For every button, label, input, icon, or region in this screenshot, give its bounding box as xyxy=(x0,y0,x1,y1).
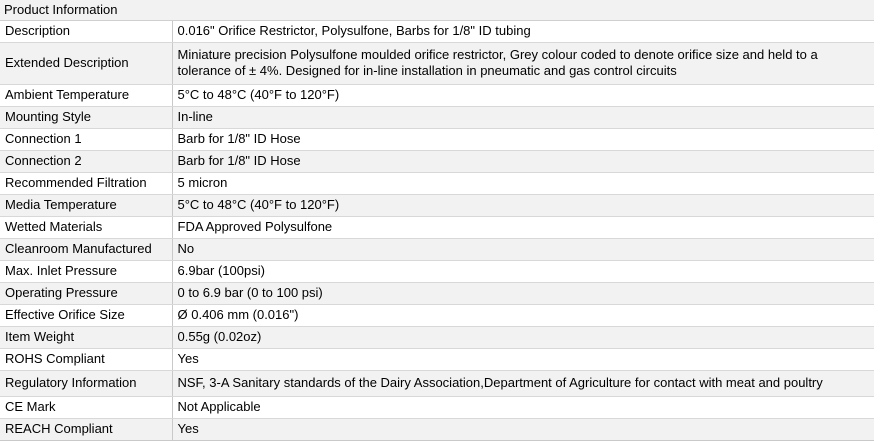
table-row: Regulatory InformationNSF, 3-A Sanitary … xyxy=(0,371,874,397)
row-value: 0.016" Orifice Restrictor, Polysulfone, … xyxy=(172,21,874,43)
row-value: FDA Approved Polysulfone xyxy=(172,217,874,239)
row-label: Operating Pressure xyxy=(0,283,172,305)
row-label: Connection 2 xyxy=(0,151,172,173)
row-label: Max. Inlet Pressure xyxy=(0,261,172,283)
table-row: Ambient Temperature5°C to 48°C (40°F to … xyxy=(0,85,874,107)
row-label: Description xyxy=(0,21,172,43)
row-value: NSF, 3-A Sanitary standards of the Dairy… xyxy=(172,371,874,397)
row-value: Ø 0.406 mm (0.016") xyxy=(172,305,874,327)
table-row: Extended DescriptionMiniature precision … xyxy=(0,43,874,85)
table-body: Product Information Description0.016" Or… xyxy=(0,0,874,441)
row-label: ROHS Compliant xyxy=(0,349,172,371)
row-value: No xyxy=(172,239,874,261)
table-row: REACH CompliantYes xyxy=(0,419,874,441)
table-row: Media Temperature5°C to 48°C (40°F to 12… xyxy=(0,195,874,217)
table-header-row: Product Information xyxy=(0,0,874,21)
table-row: Connection 2Barb for 1/8" ID Hose xyxy=(0,151,874,173)
row-value: 5°C to 48°C (40°F to 120°F) xyxy=(172,195,874,217)
row-label: REACH Compliant xyxy=(0,419,172,441)
table-row: Connection 1Barb for 1/8" ID Hose xyxy=(0,129,874,151)
table-row: Operating Pressure0 to 6.9 bar (0 to 100… xyxy=(0,283,874,305)
row-label: Connection 1 xyxy=(0,129,172,151)
table-row: Max. Inlet Pressure6.9bar (100psi) xyxy=(0,261,874,283)
row-label: Extended Description xyxy=(0,43,172,85)
row-label: Cleanroom Manufactured xyxy=(0,239,172,261)
table-row: Recommended Filtration5 micron xyxy=(0,173,874,195)
row-label: Media Temperature xyxy=(0,195,172,217)
table-title: Product Information xyxy=(0,0,874,21)
table-row: Description0.016" Orifice Restrictor, Po… xyxy=(0,21,874,43)
row-label: Item Weight xyxy=(0,327,172,349)
row-value: 5 micron xyxy=(172,173,874,195)
row-value: Miniature precision Polysulfone moulded … xyxy=(172,43,874,85)
table-row: Cleanroom ManufacturedNo xyxy=(0,239,874,261)
row-label: Effective Orifice Size xyxy=(0,305,172,327)
product-information-table: Product Information Description0.016" Or… xyxy=(0,0,874,441)
row-value: Yes xyxy=(172,349,874,371)
row-label: Regulatory Information xyxy=(0,371,172,397)
table-row: Effective Orifice SizeØ 0.406 mm (0.016"… xyxy=(0,305,874,327)
row-value: 0 to 6.9 bar (0 to 100 psi) xyxy=(172,283,874,305)
table-row: Wetted MaterialsFDA Approved Polysulfone xyxy=(0,217,874,239)
table-row: ROHS CompliantYes xyxy=(0,349,874,371)
row-value: 5°C to 48°C (40°F to 120°F) xyxy=(172,85,874,107)
row-label: Wetted Materials xyxy=(0,217,172,239)
row-label: Ambient Temperature xyxy=(0,85,172,107)
row-value: 6.9bar (100psi) xyxy=(172,261,874,283)
row-value: Yes xyxy=(172,419,874,441)
row-value: In-line xyxy=(172,107,874,129)
table-row: Item Weight0.55g (0.02oz) xyxy=(0,327,874,349)
row-label: Mounting Style xyxy=(0,107,172,129)
row-value: Barb for 1/8" ID Hose xyxy=(172,129,874,151)
row-value: 0.55g (0.02oz) xyxy=(172,327,874,349)
row-value: Barb for 1/8" ID Hose xyxy=(172,151,874,173)
row-label: Recommended Filtration xyxy=(0,173,172,195)
table-row: Mounting StyleIn-line xyxy=(0,107,874,129)
